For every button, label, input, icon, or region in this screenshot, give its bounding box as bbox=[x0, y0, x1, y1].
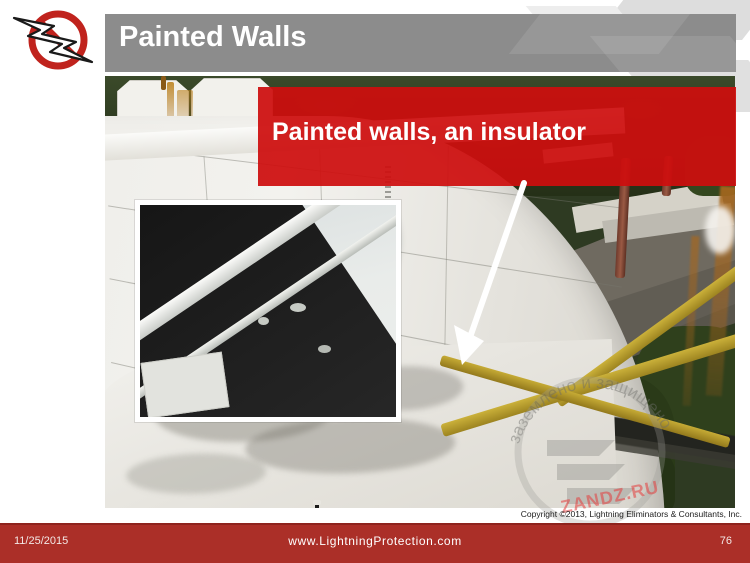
inset-photo bbox=[135, 200, 401, 422]
footer-url[interactable]: www.LightningProtection.com bbox=[0, 534, 750, 548]
footer-divider bbox=[0, 523, 750, 525]
caption-text: Painted walls, an insulator bbox=[272, 118, 586, 147]
caption-banner: Painted walls, an insulator bbox=[258, 87, 736, 186]
lightning-bolt-prohibited-logo bbox=[6, 4, 98, 72]
slide-title-bar: Painted Walls bbox=[105, 14, 736, 72]
inset-photo-content bbox=[140, 205, 396, 417]
bolt-head bbox=[313, 500, 321, 505]
footer-page-number: 76 bbox=[720, 535, 732, 547]
page-title: Painted Walls bbox=[119, 21, 306, 54]
slide: Painted Walls bbox=[0, 0, 750, 563]
slide-footer: 11/25/2015 www.LightningProtection.com 7… bbox=[0, 523, 750, 563]
wall-patch bbox=[705, 206, 735, 254]
chevron-shape bbox=[590, 36, 736, 72]
copyright-text: Copyright ©2013, Lightning Eliminators &… bbox=[521, 509, 742, 519]
paint-chip bbox=[318, 345, 331, 353]
paint-chip bbox=[258, 317, 269, 325]
rust-streak bbox=[161, 76, 166, 90]
floor-tile bbox=[141, 352, 230, 417]
deck-stain bbox=[125, 451, 266, 496]
paint-chip bbox=[290, 303, 306, 312]
